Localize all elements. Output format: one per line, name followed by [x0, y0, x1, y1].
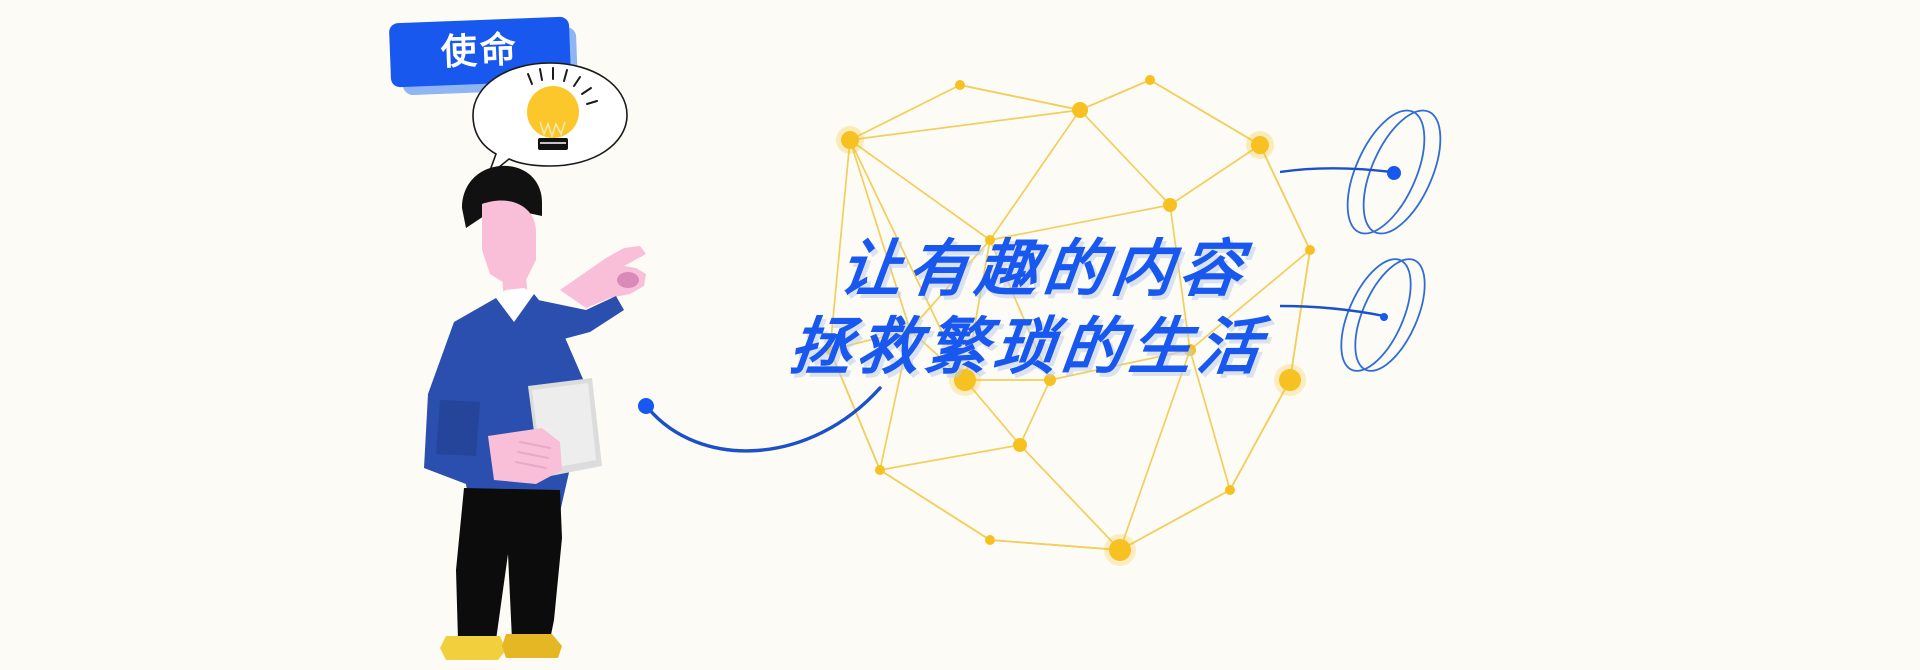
thumb-detail [617, 272, 639, 288]
shoe-right [502, 634, 562, 658]
swoosh-dot [638, 398, 654, 414]
orbit-dot-upper [1387, 166, 1401, 180]
swoosh-line [648, 388, 880, 451]
orbit-connector-upper [1280, 168, 1392, 172]
swoosh-curve [630, 370, 960, 490]
shoe-left [440, 636, 506, 660]
lightbulb-icon [527, 86, 579, 138]
person-illustration [440, 60, 710, 670]
pants [456, 488, 562, 640]
mission-banner: 使命 [0, 0, 1920, 670]
bulb-base-icon [538, 138, 568, 150]
shirt-fold [436, 400, 480, 456]
head [482, 200, 536, 284]
headline-line-2: 拯救繁琐的生活 [785, 308, 1555, 386]
headline-line-1: 让有趣的内容 [835, 230, 1555, 308]
holding-hand [488, 428, 562, 484]
headline-block: 让有趣的内容 拯救繁琐的生活 [790, 230, 1550, 386]
